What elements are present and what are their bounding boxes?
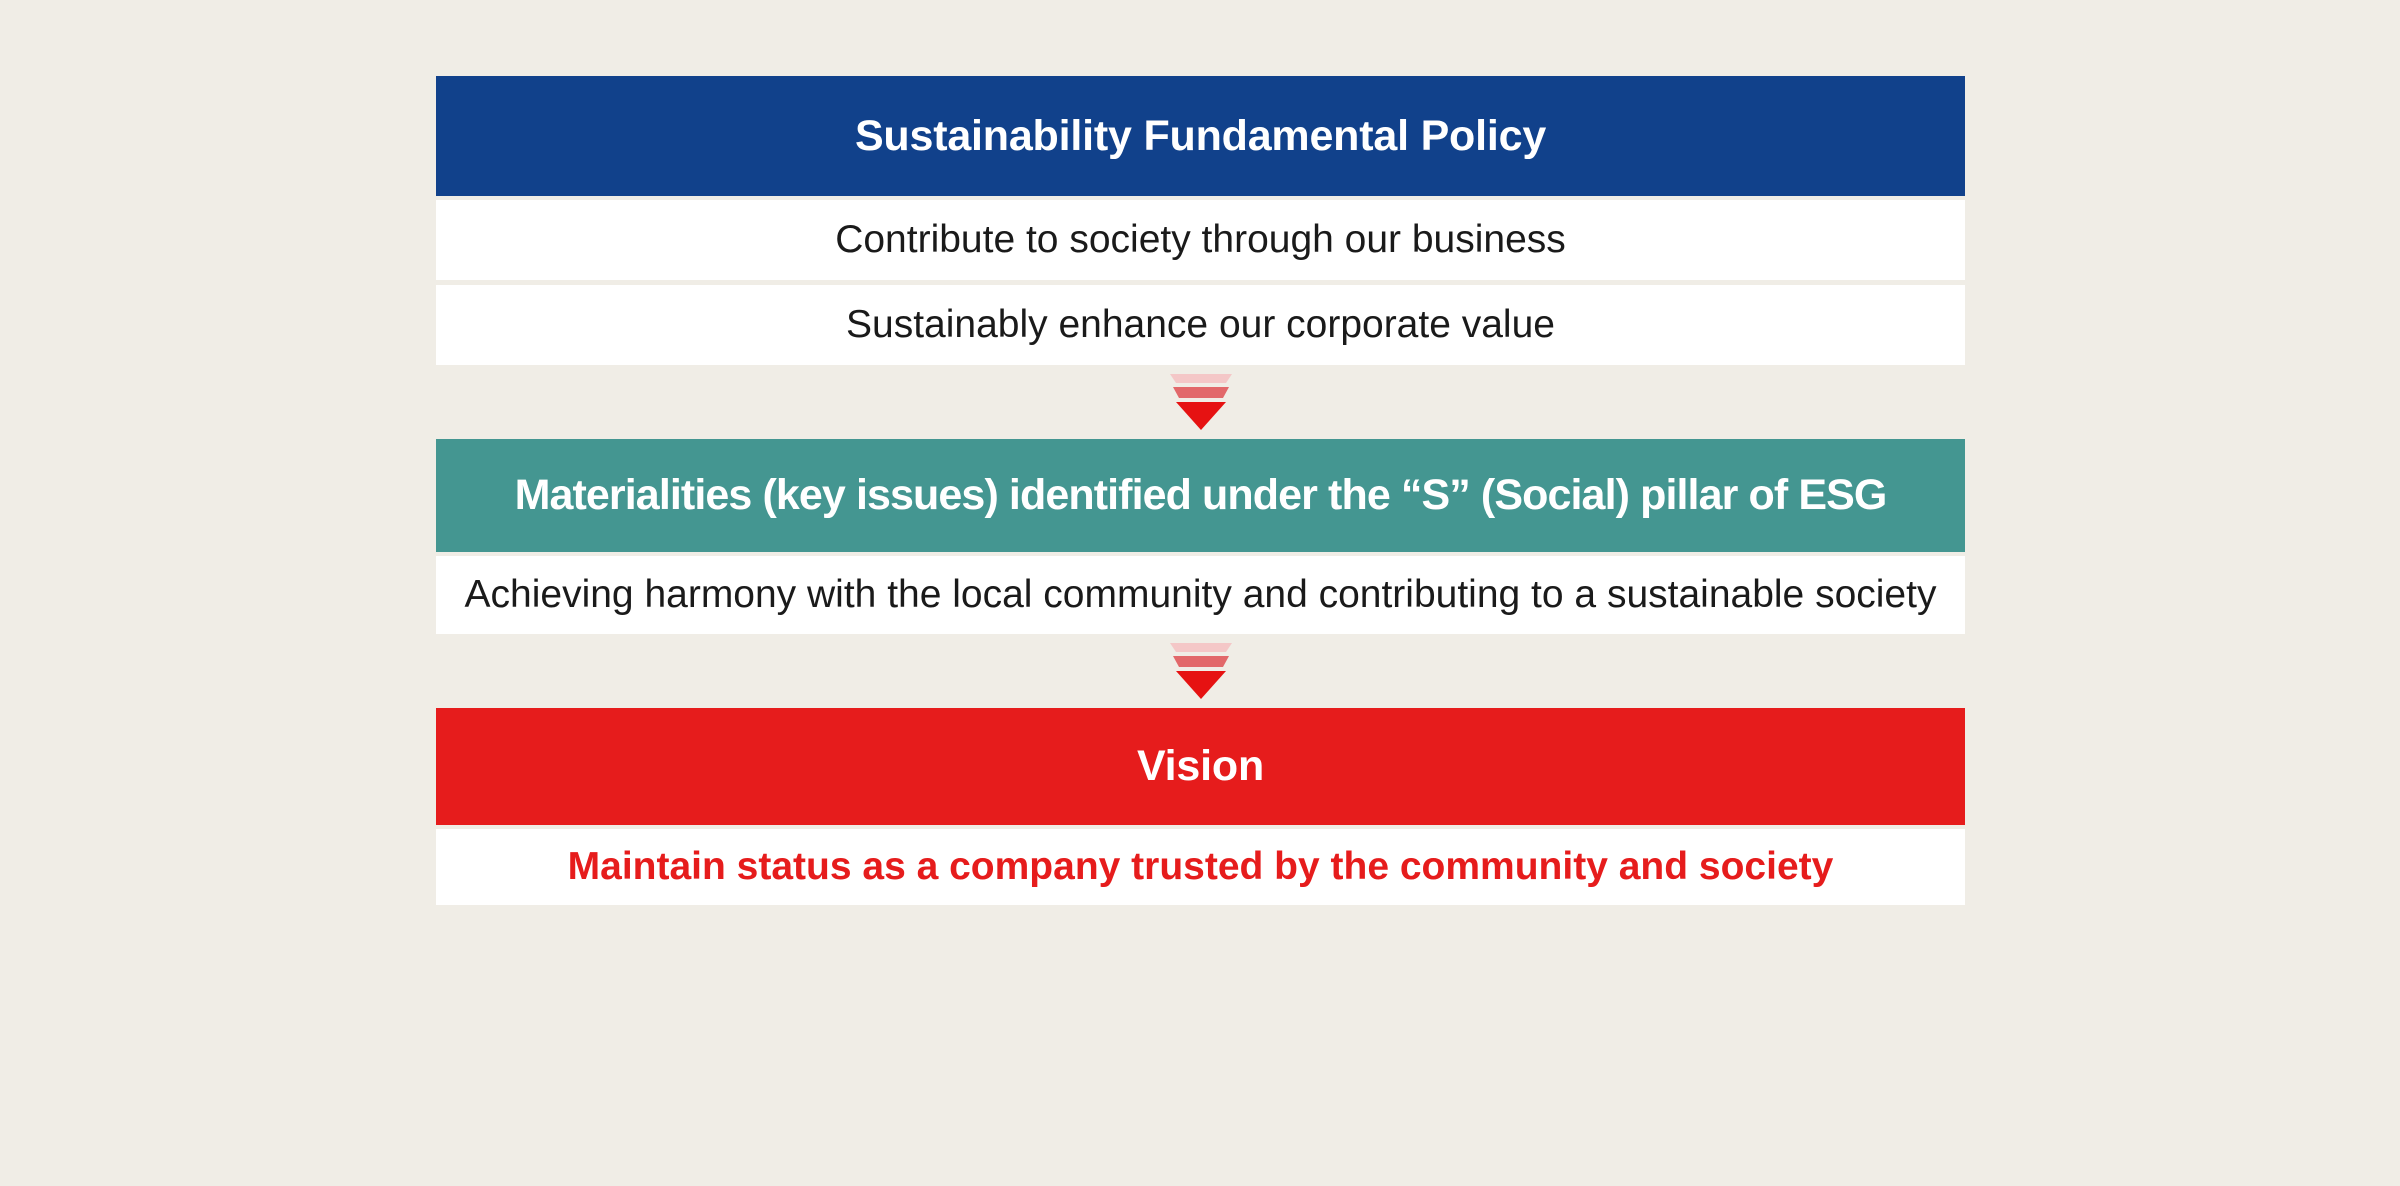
arrow-policy-to-materiality [436,365,1965,439]
policy-flow-stack: Sustainability Fundamental Policy Contri… [436,76,1965,905]
chevron-down-icon [1170,643,1232,699]
vision-heading: Vision [436,708,1965,825]
sustainability-policy-heading: Sustainability Fundamental Policy [436,76,1965,196]
arrow-materiality-to-vision [436,634,1965,708]
policy-item-enhance-corporate-value: Sustainably enhance our corporate value [436,285,1965,365]
materiality-heading: Materialities (key issues) identified un… [436,439,1965,552]
policy-item-contribute-to-society: Contribute to society through our busine… [436,200,1965,280]
materiality-item-local-community-harmony: Achieving harmony with the local communi… [436,556,1965,634]
diagram-canvas: Sustainability Fundamental Policy Contri… [0,0,2400,1186]
vision-item-trusted-company: Maintain status as a company trusted by … [436,829,1965,905]
chevron-down-icon [1170,374,1232,430]
